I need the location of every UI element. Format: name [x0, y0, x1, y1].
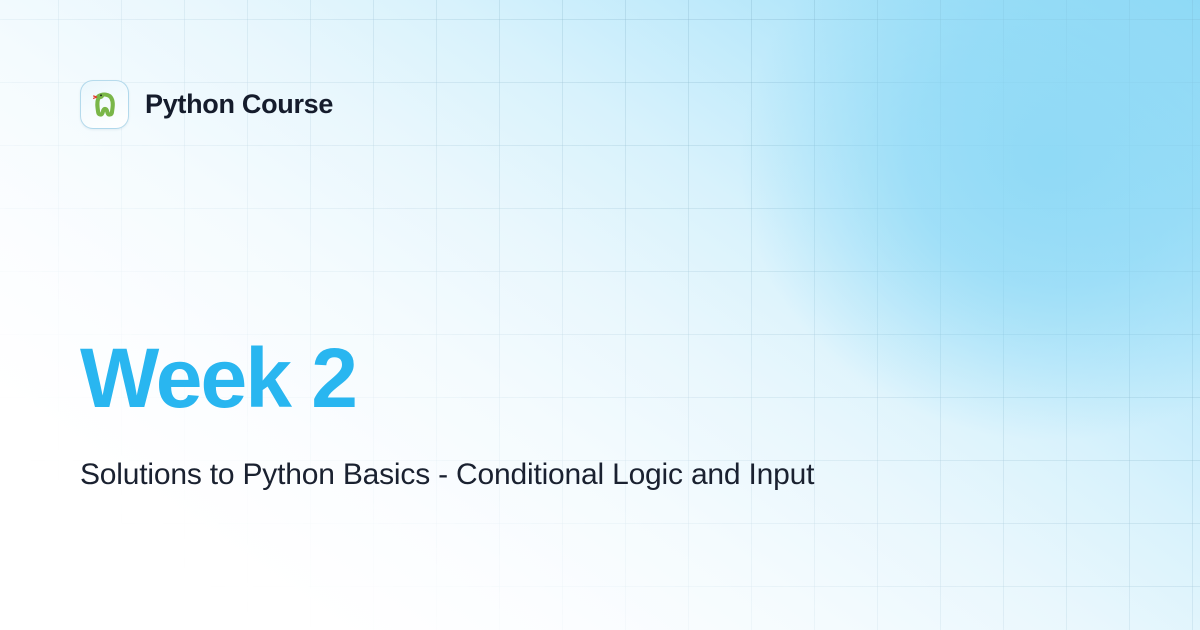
page-title: Week 2 — [80, 336, 880, 420]
page-subtitle: Solutions to Python Basics - Conditional… — [80, 454, 840, 495]
brand-header: Python Course — [80, 80, 333, 129]
brand-name: Python Course — [145, 89, 333, 120]
og-card: Python Course Week 2 Solutions to Python… — [0, 0, 1200, 630]
python-snake-icon — [80, 80, 129, 129]
hero-content: Week 2 Solutions to Python Basics - Cond… — [80, 336, 880, 495]
